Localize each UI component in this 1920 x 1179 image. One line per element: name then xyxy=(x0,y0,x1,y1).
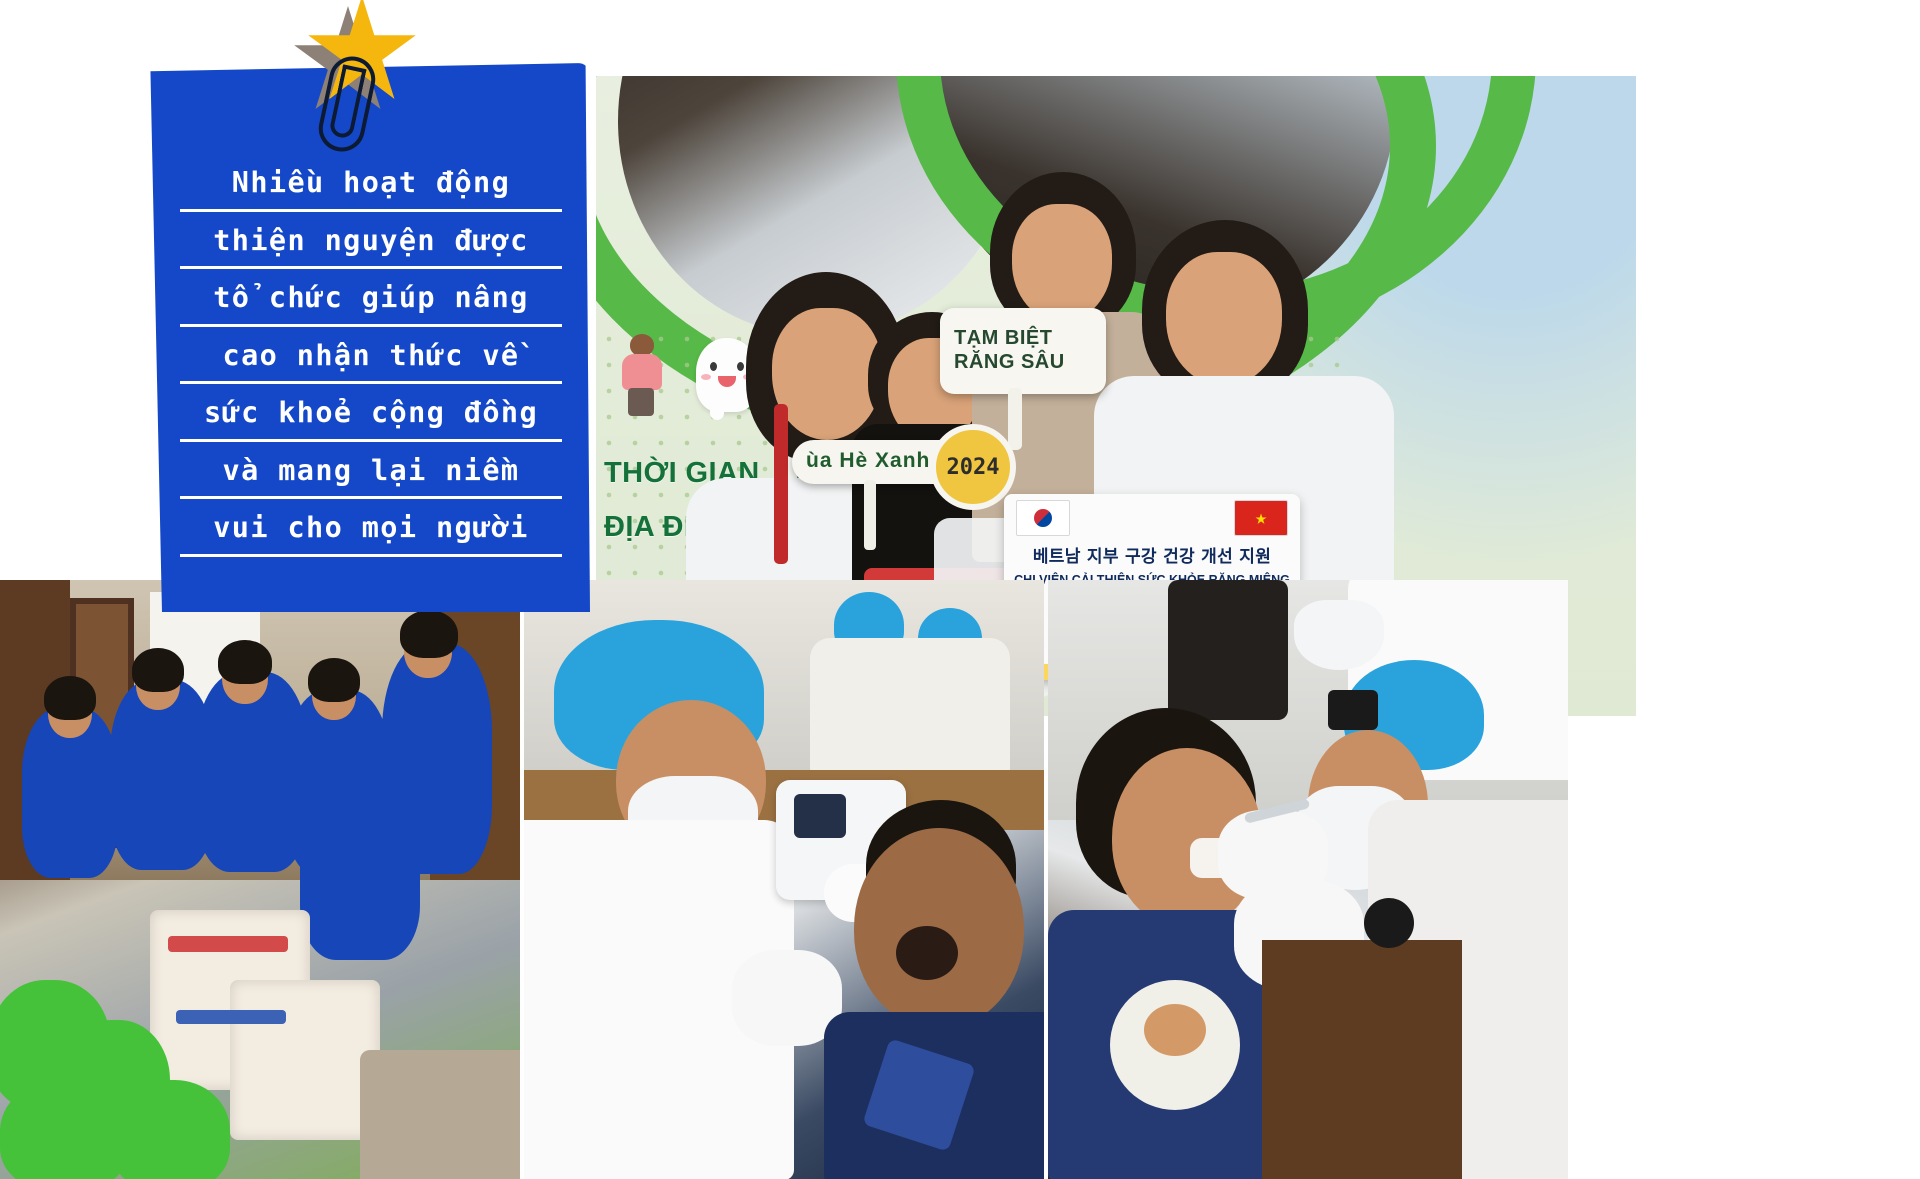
photo2-bg-coat xyxy=(810,638,1010,788)
photo2-child-open-mouth xyxy=(896,926,958,980)
photo3-bg-mask xyxy=(1294,600,1384,670)
child-girl-face xyxy=(1012,204,1112,322)
quote-line-4: cao nhận thức về xyxy=(180,342,562,385)
star-paperclip-decoration xyxy=(290,0,430,136)
photo1-floor-patch xyxy=(360,1050,520,1179)
paddle-green-summer-year: 2024 xyxy=(930,424,1016,510)
volunteer-left-face xyxy=(772,308,882,440)
photo-dental-screening-girl xyxy=(1048,580,1568,1179)
photo2-device-screen xyxy=(794,794,846,838)
photo-dental-screening-boy xyxy=(524,580,1044,1179)
photo3-bg-dark xyxy=(1168,580,1288,720)
quote-line-2: thiện nguyện được xyxy=(180,227,562,270)
volunteer-left-lanyard xyxy=(774,404,788,564)
paddle-line-2: RĂNG SÂU xyxy=(954,351,1065,375)
photo1-rice-sack-2 xyxy=(230,980,380,1140)
page-root: THỜI GIAN 08/07/ /08/2024 ĐỊA ĐIỂM Huyện xyxy=(0,0,1920,1179)
photo3-child-shirt-face xyxy=(1144,1004,1206,1056)
paddle-sign-green-summer: ùa Hè Xanh 2024 xyxy=(792,440,992,484)
photo3-doctor-watch xyxy=(1364,898,1414,948)
paddle-sign-green-summer-stick xyxy=(864,480,876,550)
quote-line-5: sức khoẻ cộng đồng xyxy=(180,399,562,442)
doctor-right-face xyxy=(1166,252,1282,386)
paddle-line-1: TẠM BIỆT xyxy=(954,327,1052,351)
photo3-doctor-headlamp xyxy=(1328,690,1378,730)
vietnam-flag-icon xyxy=(1234,500,1288,536)
quote-line-3: tổ chức giúp nâng xyxy=(180,284,562,327)
photo1-hair-4 xyxy=(308,658,360,702)
quote-line-1: Nhiều hoạt động xyxy=(180,169,562,212)
paddle-sign-goodbye-cavities: TẠM BIỆT RĂNG SÂU xyxy=(940,308,1106,394)
photo1-sack-stripe-blue xyxy=(176,1010,286,1024)
paddle-sign-goodbye-stick xyxy=(1008,388,1022,450)
bottom-photo-strip xyxy=(0,580,1568,1179)
donation-sign-korean-text: 베트남 지부 구강 건강 개선 지원 xyxy=(1033,542,1271,567)
photo1-hair-1 xyxy=(44,676,96,720)
photo1-sack-stripe-red xyxy=(168,936,288,952)
photo3-wooden-desk xyxy=(1262,940,1462,1179)
donation-sign-flags xyxy=(1004,500,1300,536)
photo1-hair-5 xyxy=(400,610,458,658)
paddle-green-summer-text: ùa Hè Xanh xyxy=(806,449,930,473)
quote-card-text-block: Nhiều hoạt động thiện nguyện được tổ chứ… xyxy=(146,63,590,612)
korea-flag-icon xyxy=(1016,500,1070,536)
photo1-green-bag-4 xyxy=(110,1080,230,1179)
quote-card: Nhiều hoạt động thiện nguyện được tổ chứ… xyxy=(146,63,590,612)
quote-line-6: và mang lại niềm xyxy=(180,457,562,500)
photo1-hair-2 xyxy=(132,648,184,692)
photo-volunteers-rice-bags xyxy=(0,580,520,1179)
photo1-hair-3 xyxy=(218,640,272,684)
quote-line-7: vui cho mọi người xyxy=(180,514,562,557)
photo1-volunteer-6 xyxy=(300,780,420,960)
